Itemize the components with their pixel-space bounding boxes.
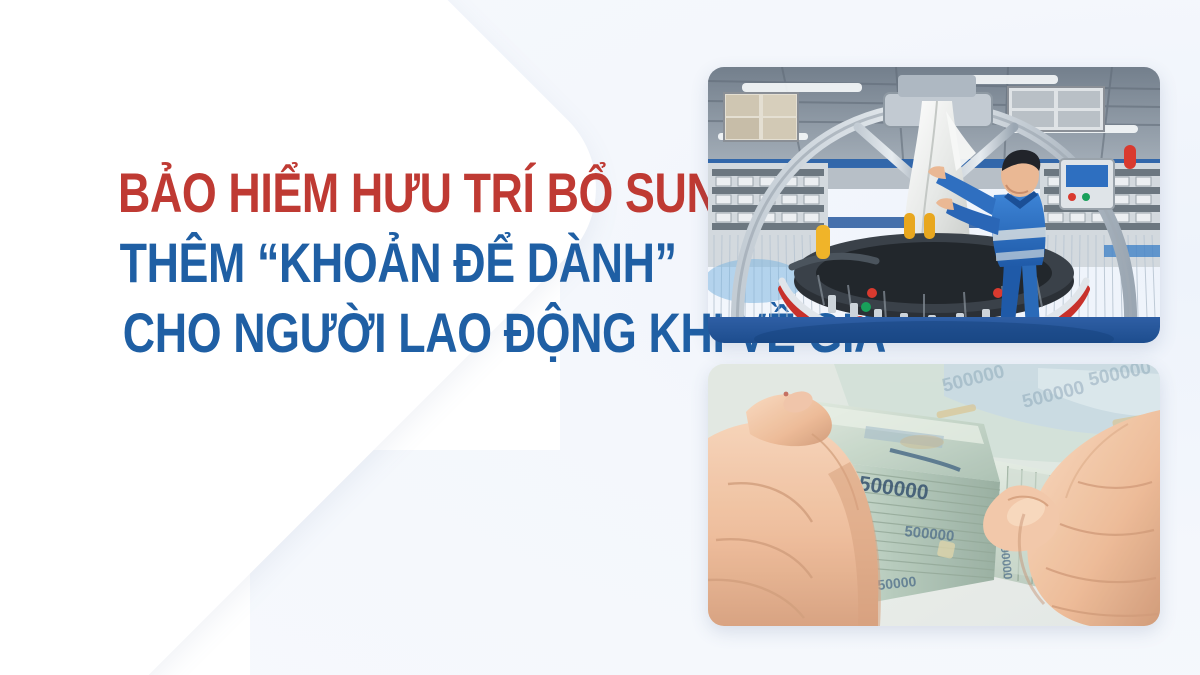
money-illustration: 500000 500000 500000 500000 9 [708, 364, 1160, 626]
headline-line-2: THÊM “KHOẢN ĐỂ DÀNH” [118, 228, 614, 298]
headline-block: BẢO HIỂM HƯU TRÍ BỔ SUNG: THÊM “KHOẢN ĐỂ… [118, 158, 738, 368]
poster-canvas: BẢO HIỂM HƯU TRÍ BỔ SUNG: THÊM “KHOẢN ĐỂ… [0, 0, 1200, 675]
photo-hands-counting-money: 500000 500000 500000 500000 9 [708, 364, 1160, 626]
headline-line-3: CHO NGƯỜI LAO ĐỘNG KHI VỀ GIÀ [118, 298, 614, 368]
photo-factory-worker [708, 67, 1160, 343]
factory-illustration [708, 67, 1160, 343]
headline-line-1: BẢO HIỂM HƯU TRÍ BỔ SUNG: [118, 158, 614, 228]
